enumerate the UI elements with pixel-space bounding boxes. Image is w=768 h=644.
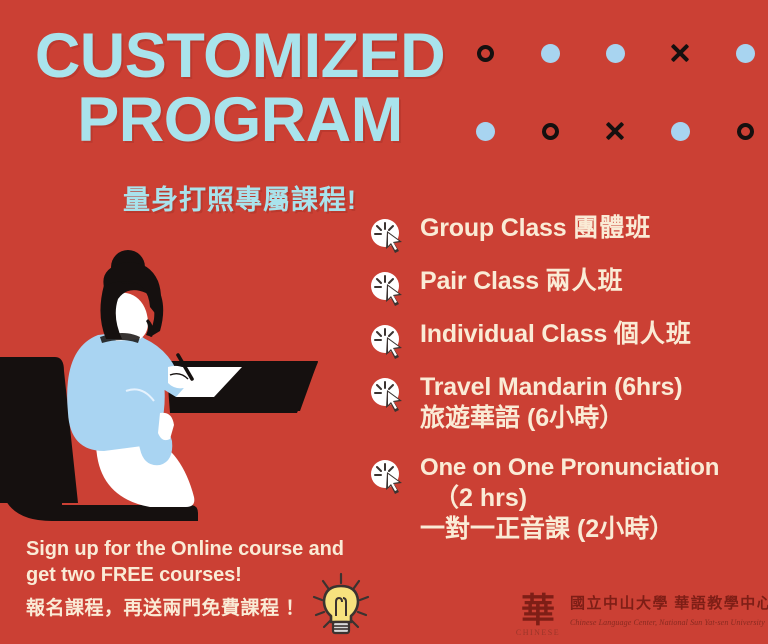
cross-icon	[600, 116, 630, 146]
list-item[interactable]: Group Class 團體班	[368, 214, 768, 254]
click-cursor-icon	[368, 322, 410, 360]
course-subtitle-zh: 旅遊華語 (6小時）	[420, 403, 768, 433]
course-list: Group Class 團體班 Pair	[368, 214, 768, 557]
decorative-dot-pattern	[470, 38, 760, 143]
list-item[interactable]: Individual Class 個人班	[368, 320, 768, 360]
click-cursor-icon	[368, 269, 410, 307]
logo-text: 國立中山大學 華語教學中心 Chinese Language Center, N…	[570, 592, 766, 627]
course-duration: （2 hrs)	[420, 483, 768, 513]
customized-program-poster: CUSTOMIZED PROGRAM 量身打照專屬課程!	[0, 0, 768, 644]
headline-subtitle: 量身打照專屬課程!	[30, 178, 450, 217]
course-title: Individual Class 個人班	[420, 320, 768, 348]
promo-line-1: Sign up for the Online course and	[26, 536, 376, 562]
course-title-zh: 團體班	[573, 214, 651, 242]
logo-name-en: Chinese Language Center, National Sun Ya…	[570, 618, 766, 627]
ring-icon	[730, 116, 760, 146]
pattern-row-2	[470, 116, 760, 146]
seal-character: 華	[521, 592, 555, 630]
headline-line-2: PROGRAM	[30, 92, 450, 150]
list-item[interactable]: Pair Class 兩人班	[368, 267, 768, 307]
list-item[interactable]: One on One Pronunciation （2 hrs) 一對一正音課 …	[368, 455, 768, 544]
dot-icon	[730, 38, 760, 68]
course-title: Group Class 團體班	[420, 214, 768, 242]
ring-icon	[470, 38, 500, 68]
course-title-en: Travel Mandarin (6hrs)	[420, 373, 768, 401]
dot-icon	[665, 116, 695, 146]
course-title-en: Group Class	[420, 214, 566, 242]
course-subtitle-zh: 一對一正音課 (2小時）	[420, 514, 768, 544]
organization-logo: 華 CHINESE 國立中山大學 華語教學中心 Chinese Language…	[512, 588, 762, 640]
ring-icon	[535, 116, 565, 146]
person-writing-at-desk-illustration	[0, 245, 345, 545]
click-cursor-icon	[368, 457, 410, 495]
lightbulb-icon	[306, 570, 376, 640]
list-item[interactable]: Travel Mandarin (6hrs) 旅遊華語 (6小時）	[368, 373, 768, 433]
dot-icon	[535, 38, 565, 68]
course-title-en: Individual Class	[420, 320, 607, 348]
course-title-zh: 兩人班	[546, 267, 624, 295]
cross-icon	[665, 38, 695, 68]
pattern-row-1	[470, 38, 760, 68]
click-cursor-icon	[368, 375, 410, 413]
click-cursor-icon	[368, 216, 410, 254]
logo-name-zh: 國立中山大學 華語教學中心	[570, 592, 766, 613]
svg-text:CHINESE: CHINESE	[516, 628, 560, 637]
dot-icon	[470, 116, 500, 146]
course-title: Pair Class 兩人班	[420, 267, 768, 295]
seal-icon: 華 CHINESE	[512, 588, 564, 640]
dot-icon	[600, 38, 630, 68]
headline-line-1: CUSTOMIZED	[30, 28, 450, 86]
course-title-zh: 個人班	[614, 320, 692, 348]
course-title-en: Pair Class	[420, 267, 539, 295]
page-title: CUSTOMIZED PROGRAM	[30, 28, 450, 150]
course-title-en: One on One Pronunciation	[420, 455, 768, 482]
